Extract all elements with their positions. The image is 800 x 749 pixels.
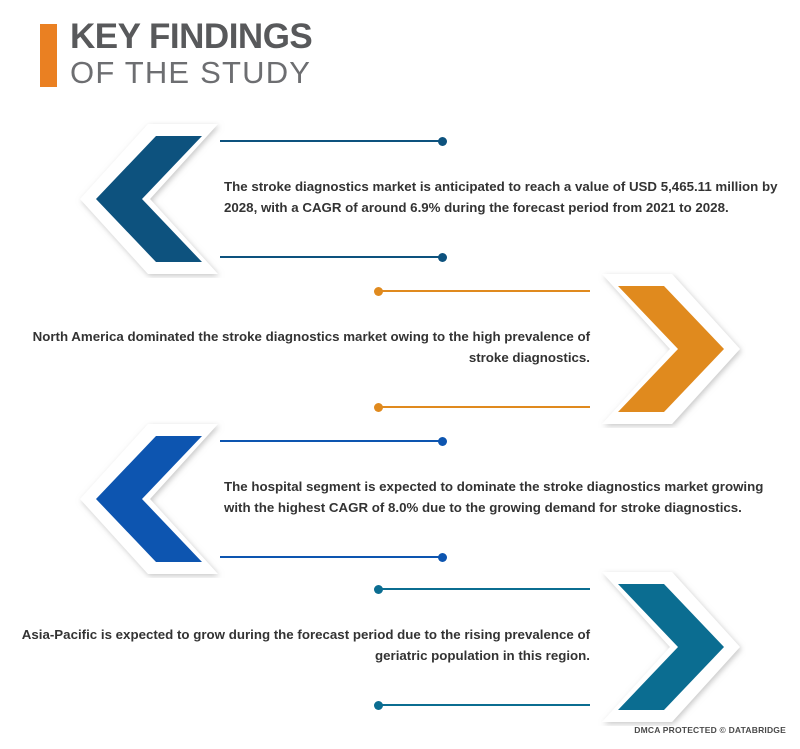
title-accent-bar: [40, 24, 57, 87]
finding-block-1: The stroke diagnostics market is anticip…: [0, 118, 800, 278]
connector-line: [220, 556, 443, 558]
connector-dot: [374, 403, 383, 412]
chevron-left-icon: [74, 420, 226, 578]
page-title-primary: KEY FINDINGS: [70, 18, 312, 56]
connector-dot: [374, 701, 383, 710]
connector-line: [220, 140, 443, 142]
chevron-left-icon: [74, 120, 226, 278]
page-title: KEY FINDINGS OF THE STUDY: [70, 18, 312, 90]
connector-line: [378, 704, 590, 706]
page-title-secondary: OF THE STUDY: [70, 56, 312, 90]
connector-line: [220, 256, 443, 258]
finding-block-3: The hospital segment is expected to domi…: [0, 418, 800, 578]
connector-line: [378, 588, 590, 590]
finding-block-2: North America dominated the stroke diagn…: [0, 268, 800, 428]
page-header: KEY FINDINGS OF THE STUDY: [0, 0, 800, 112]
connector-dot: [438, 437, 447, 446]
connector-dot: [438, 137, 447, 146]
connector-dot: [438, 553, 447, 562]
connector-line: [220, 440, 443, 442]
connector-dot: [438, 253, 447, 262]
finding-block-4: Asia-Pacific is expected to grow during …: [0, 566, 800, 726]
connector-dot: [374, 585, 383, 594]
finding-text-1: The stroke diagnostics market is anticip…: [224, 176, 790, 218]
footer-attribution: DMCA PROTECTED © DATABRIDGE: [634, 725, 786, 735]
connector-dot: [374, 287, 383, 296]
chevron-right-icon: [594, 568, 746, 726]
finding-text-3: The hospital segment is expected to domi…: [224, 476, 790, 518]
connector-line: [378, 406, 590, 408]
chevron-right-icon: [594, 270, 746, 428]
connector-line: [378, 290, 590, 292]
finding-text-4: Asia-Pacific is expected to grow during …: [20, 624, 590, 666]
finding-text-2: North America dominated the stroke diagn…: [20, 326, 590, 368]
